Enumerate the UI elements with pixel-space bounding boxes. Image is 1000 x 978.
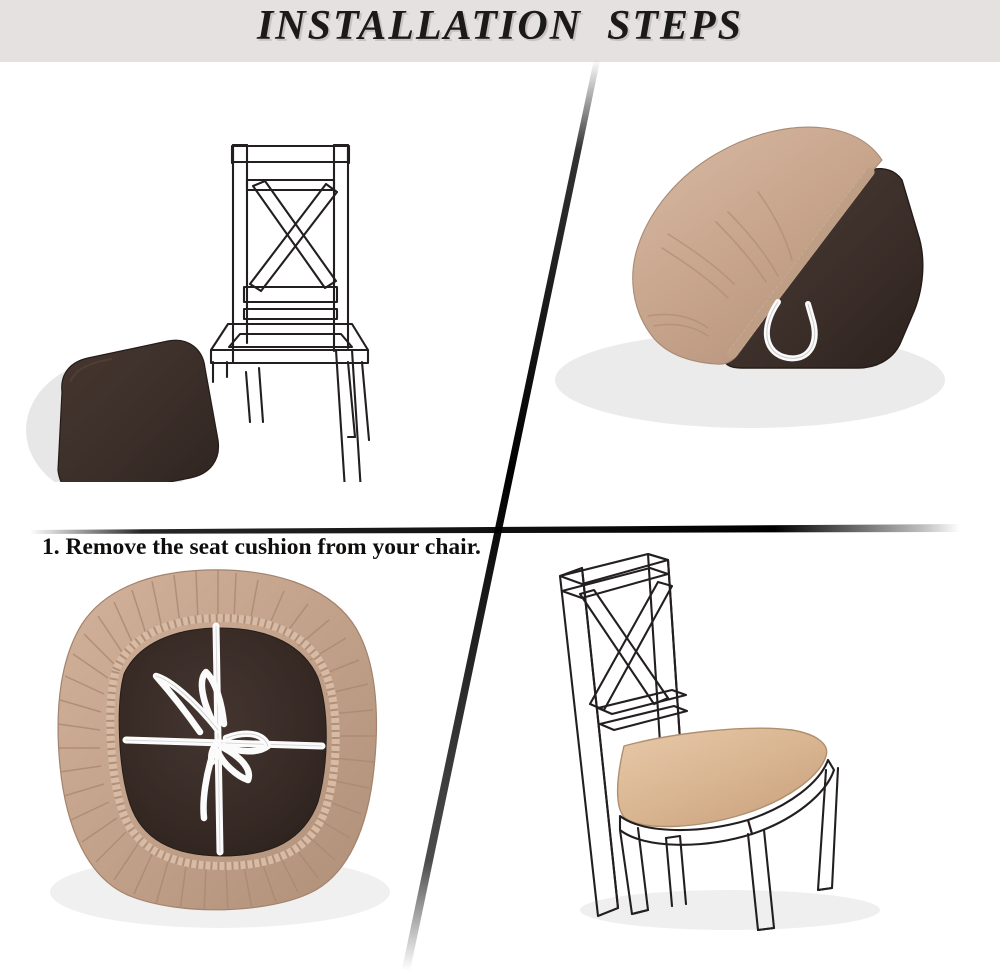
step-panel-2: 2. Put the seat cover on the seat cushio… — [520, 62, 1000, 530]
installation-steps-infographic: INSTALLATION STEPS — [0, 0, 1000, 978]
removed-cushion — [26, 340, 218, 482]
step-panel-4: 4. Reinstall the covered seat cushion on… — [430, 530, 1000, 978]
cover-over-cushion-icon — [520, 62, 1000, 462]
step-panel-3: 3. Turn over the seat cushion and tighte… — [0, 530, 450, 978]
chair-front-line-drawing-icon — [0, 62, 520, 482]
covered-seat-cushion — [618, 728, 827, 826]
chair-angled-line-drawing-icon — [520, 538, 990, 938]
step-panel-1: 1. Remove the seat cushion from your cha… — [0, 62, 520, 530]
page-title: INSTALLATION STEPS — [0, 2, 1000, 50]
cushion-underside-icon — [30, 552, 450, 932]
